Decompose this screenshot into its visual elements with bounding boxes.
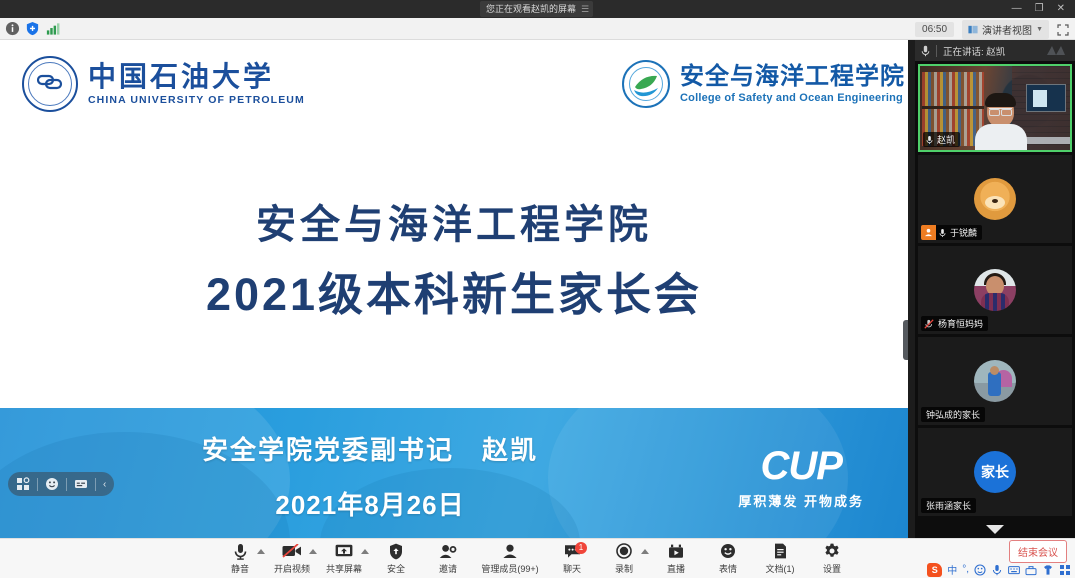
- participants-icon: [502, 543, 518, 560]
- avatar: [974, 269, 1016, 311]
- brand-mark-icon: [1047, 45, 1069, 56]
- toolbar-label: 直播: [667, 562, 685, 575]
- participant-name: 赵凯: [936, 133, 960, 146]
- participants-panel: 正在讲话: 赵凯: [915, 40, 1075, 538]
- meeting-toolbar-items: 静音 开启视频: [214, 540, 858, 578]
- apps-icon[interactable]: [1059, 564, 1071, 576]
- ime-punctuation-mode[interactable]: °,: [962, 564, 969, 575]
- chevron-up-icon[interactable]: [361, 549, 369, 554]
- manage-participants-button[interactable]: 管理成员(99+): [474, 540, 546, 578]
- live-stream-button[interactable]: 直播: [650, 540, 702, 578]
- toolbar-label: 文档(1): [766, 562, 795, 575]
- layout-icon: [968, 25, 978, 35]
- participant-name: 钟弘成的家长: [921, 408, 985, 421]
- university-name-cn: 中国石油大学: [88, 62, 305, 91]
- presenter-name: 安全学院党委副书记 赵凯: [0, 430, 740, 467]
- cup-wordmark: CUP 厚积薄发 开物成务: [738, 446, 864, 510]
- emoji-icon[interactable]: [974, 564, 986, 576]
- participant-name-chip: 于锐麟: [921, 225, 982, 240]
- window-controls: — ❐ ✕: [1012, 0, 1071, 18]
- participant-name-chip: 杨育恒妈妈: [921, 316, 988, 331]
- participant-tile[interactable]: 杨育恒妈妈: [918, 246, 1072, 334]
- close-button[interactable]: ✕: [1057, 0, 1065, 18]
- chevron-up-icon[interactable]: [309, 549, 317, 554]
- university-logo: 中国石油大学 CHINA UNIVERSITY OF PETROLEUM: [22, 56, 305, 112]
- end-meeting-button[interactable]: 结束会议: [1009, 540, 1067, 563]
- university-name-en: CHINA UNIVERSITY OF PETROLEUM: [88, 94, 305, 106]
- chat-unread-badge: 1: [575, 542, 587, 554]
- toolbar-label: 管理成员(99+): [481, 562, 538, 575]
- video-off-icon: [282, 543, 302, 560]
- panel-collapse-handle[interactable]: ›: [903, 320, 908, 360]
- annotation-toolbar[interactable]: ‹: [8, 472, 114, 496]
- microphone-icon: [234, 543, 247, 560]
- invite-icon: [439, 543, 457, 560]
- menu-icon[interactable]: ☰: [581, 1, 589, 17]
- participant-name: 于锐麟: [949, 226, 982, 239]
- share-screen-icon: [335, 543, 353, 560]
- minimize-button[interactable]: —: [1012, 0, 1022, 18]
- chevron-up-icon[interactable]: [641, 549, 649, 554]
- toolbar-label: 聊天: [563, 562, 581, 575]
- participant-name-chip: 张雨涵家长: [921, 498, 976, 513]
- toolbar-label: 设置: [823, 562, 841, 575]
- microphone-muted-icon: [921, 319, 937, 329]
- restore-button[interactable]: ❐: [1035, 0, 1044, 18]
- headline-line-1: 安全与海洋工程学院: [0, 200, 908, 250]
- active-speaker-bar: 正在讲话: 赵凯: [915, 40, 1075, 61]
- microphone-icon: [936, 228, 949, 238]
- start-video-button[interactable]: 开启视频: [266, 540, 318, 578]
- meeting-timer: 06:50: [915, 22, 954, 37]
- slide-footer-band: 安全学院党委副书记 赵凯 2021年8月26日 CUP 厚积薄发 开物成务: [0, 408, 908, 538]
- view-mode-selector[interactable]: 演讲者视图 ▼: [962, 20, 1049, 39]
- avatar: 家长: [974, 451, 1016, 493]
- toolbox-icon[interactable]: [1025, 564, 1037, 576]
- active-speaker-label: 正在讲话: 赵凯: [943, 44, 1005, 58]
- college-name-cn: 安全与海洋工程学院: [680, 64, 905, 90]
- signal-bars-icon[interactable]: [45, 21, 60, 36]
- toolbar-label: 邀请: [439, 562, 457, 575]
- collapse-toolbar-button[interactable]: ‹: [103, 479, 106, 490]
- decorative-shape: [1026, 84, 1066, 112]
- chevron-down-icon[interactable]: [986, 525, 1004, 534]
- microphone-icon: [921, 45, 930, 57]
- emoji-icon: [720, 543, 736, 560]
- participant-name-chip: 钟弘成的家长: [921, 407, 985, 422]
- zoom-meeting-window: 您正在观看赵凯的屏幕 ☰ — ❐ ✕: [0, 0, 1075, 578]
- cup-wordmark-text: CUP: [738, 446, 864, 486]
- invite-button[interactable]: 邀请: [422, 540, 474, 578]
- window-titlebar: 您正在观看赵凯的屏幕 ☰ — ❐ ✕: [0, 0, 1075, 18]
- keyboard-icon[interactable]: [1008, 564, 1020, 576]
- participant-name: 张雨涵家长: [921, 499, 976, 512]
- sogou-logo-icon[interactable]: S: [927, 563, 942, 577]
- meeting-info-bar: 06:50 演讲者视图 ▼: [0, 18, 1075, 40]
- participant-tile[interactable]: 于锐麟: [918, 155, 1072, 243]
- gear-icon: [824, 543, 840, 560]
- screenshare-notice-text: 您正在观看赵凯的屏幕: [486, 1, 576, 17]
- toolbar-label: 录制: [615, 562, 633, 575]
- chevron-up-icon[interactable]: [257, 549, 265, 554]
- host-icon: [921, 225, 936, 240]
- divider: [936, 45, 937, 57]
- fullscreen-icon[interactable]: [1057, 24, 1069, 36]
- participant-tiles[interactable]: 赵凯: [915, 61, 1075, 538]
- security-button[interactable]: 安全: [370, 540, 422, 578]
- meeting-status-icons: [5, 21, 60, 36]
- headline-line-2: 2021级本科新生家长会: [0, 266, 908, 325]
- decorative-shape: [975, 92, 1027, 150]
- meeting-info-right: 06:50 演讲者视图 ▼: [915, 20, 1069, 39]
- settings-button[interactable]: 设置: [806, 540, 858, 578]
- info-icon[interactable]: [5, 21, 20, 36]
- participant-tile[interactable]: 赵凯: [918, 64, 1072, 152]
- divider: [95, 478, 96, 491]
- college-logo: 安全与海洋工程学院 College of Safety and Ocean En…: [622, 60, 905, 108]
- documents-button[interactable]: 文档(1): [754, 540, 806, 578]
- cup-motto: 厚积薄发 开物成务: [738, 491, 864, 510]
- avatar-initials: 家长: [981, 462, 1009, 482]
- participant-tile[interactable]: 家长 张雨涵家长: [918, 428, 1072, 516]
- participant-tile[interactable]: 钟弘成的家长: [918, 337, 1072, 425]
- shield-icon[interactable]: [25, 21, 40, 36]
- participant-name: 杨育恒妈妈: [937, 317, 988, 330]
- record-button[interactable]: 录制: [598, 540, 650, 578]
- college-name-en: College of Safety and Ocean Engineering: [680, 92, 905, 104]
- toolbar-label: 表情: [719, 562, 737, 575]
- microphone-icon: [923, 135, 936, 145]
- meeting-toolbar: 静音 开启视频: [0, 538, 1075, 578]
- divider: [66, 478, 67, 491]
- participant-name-chip: 赵凯: [923, 132, 960, 147]
- emoji-icon[interactable]: [45, 477, 59, 491]
- ime-language-mode[interactable]: 中: [947, 562, 957, 577]
- chevron-down-icon: ▼: [1036, 26, 1043, 33]
- reactions-button[interactable]: 表情: [702, 540, 754, 578]
- avatar: [974, 178, 1016, 220]
- subtitle-icon[interactable]: [74, 477, 88, 491]
- toolbar-label: 静音: [231, 562, 249, 575]
- screenshare-notice: 您正在观看赵凯的屏幕 ☰: [480, 1, 593, 17]
- ime-toolbar: S 中 °,: [927, 562, 1071, 577]
- toolbar-label: 安全: [387, 562, 405, 575]
- cso-seal-icon: [622, 60, 670, 108]
- view-mode-label: 演讲者视图: [982, 22, 1032, 37]
- microphone-icon[interactable]: [991, 564, 1003, 576]
- document-icon: [774, 543, 787, 560]
- live-icon: [668, 543, 684, 560]
- skin-icon[interactable]: [1042, 564, 1054, 576]
- shared-screen-viewport[interactable]: 中国石油大学 CHINA UNIVERSITY OF PETROLEUM 安全与…: [0, 40, 908, 538]
- cup-seal-icon: [22, 56, 78, 112]
- presentation-slide: 中国石油大学 CHINA UNIVERSITY OF PETROLEUM 安全与…: [0, 40, 908, 538]
- chat-button[interactable]: 1 聊天: [546, 540, 598, 578]
- share-screen-button[interactable]: 共享屏幕: [318, 540, 370, 578]
- shield-icon: [389, 543, 403, 560]
- avatar: [974, 360, 1016, 402]
- annotate-icon[interactable]: [16, 477, 30, 491]
- toolbar-label: 共享屏幕: [326, 562, 362, 575]
- divider: [37, 478, 38, 491]
- mute-button[interactable]: 静音: [214, 540, 266, 578]
- slide-headline: 安全与海洋工程学院 2021级本科新生家长会: [0, 200, 908, 325]
- toolbar-label: 开启视频: [274, 562, 310, 575]
- record-icon: [616, 543, 632, 560]
